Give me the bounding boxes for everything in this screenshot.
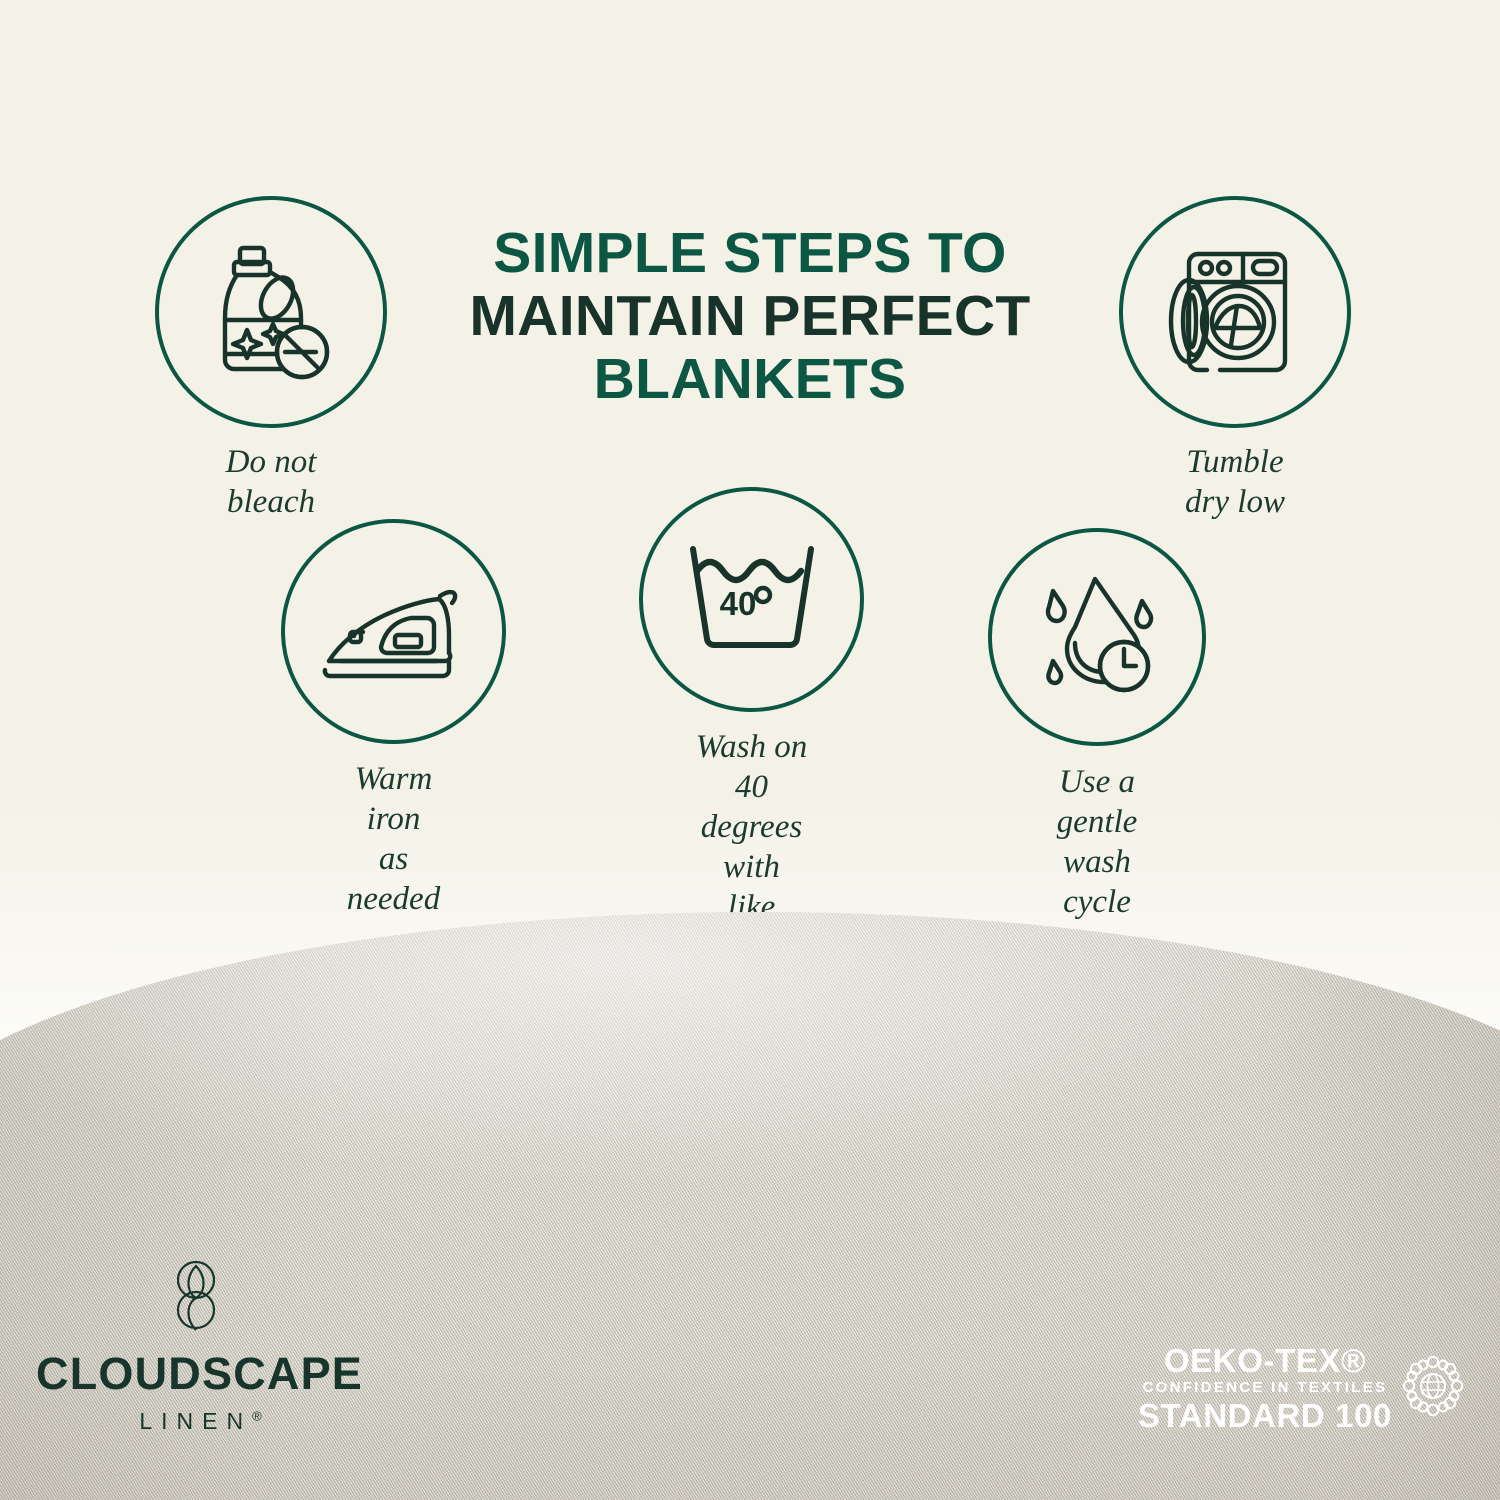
care-item-do-not-bleach: Do not bleach [155,196,387,428]
bleach-bottle-prohibited-icon [206,242,336,382]
oeko-tex-certification-badge: OEKO-TEX® CONFIDENCE IN TEXTILES STANDAR… [1138,1343,1464,1434]
care-item-caption: Use a gentle wash cycle [1043,762,1152,922]
water-droplet-timer-icon [1031,573,1163,701]
brand-name: CLOUDSCAPE [36,1350,356,1398]
title-line-2: MAINTAIN PERFECT [420,285,1080,348]
oeko-tex-line-3: STANDARD 100 [1138,1398,1392,1434]
care-item-caption: Do not bleach [213,442,329,522]
registered-trademark-symbol: ® [252,1408,262,1423]
care-item-warm-iron: Warm iron as needed [281,519,506,744]
brand-logo: CLOUDSCAPE LINEN® [36,1258,356,1435]
care-icon-ring [155,196,387,428]
care-icon-ring [988,528,1206,746]
wash-temperature-value: 40 [719,585,756,622]
page-title: SIMPLE STEPS TO MAINTAIN PERFECT BLANKET… [420,222,1080,411]
care-icon-ring [281,519,506,744]
brand-subname-text: LINEN [139,1408,252,1434]
care-instructions-section: SIMPLE STEPS TO MAINTAIN PERFECT BLANKET… [0,0,1500,900]
care-item-tumble-dry-low: Tumble dry low [1119,196,1351,428]
brand-subname: LINEN® [130,1408,261,1435]
oeko-tex-flower-globe-icon [1402,1355,1464,1422]
care-icon-ring: 40 [639,487,864,712]
interlocking-circles-logo-icon [36,1258,356,1334]
care-item-gentle-wash-cycle: Use a gentle wash cycle [988,528,1206,746]
care-icon-ring [1119,196,1351,428]
oeko-tex-line-1: OEKO-TEX® [1138,1343,1392,1378]
clothes-iron-icon [319,573,469,691]
oeko-tex-text-block: OEKO-TEX® CONFIDENCE IN TEXTILES STANDAR… [1138,1343,1392,1434]
care-instruction-graphic: SIMPLE STEPS TO MAINTAIN PERFECT BLANKET… [0,0,1500,1500]
title-line-3: BLANKETS [420,348,1080,411]
care-item-wash-40-degrees: 40 Wash on 40 degrees with like colors [639,487,864,712]
wash-tub-icon: 40 [684,543,820,657]
care-item-caption: Warm iron as needed [337,759,450,919]
oeko-tex-line-2: CONFIDENCE IN TEXTILES [1138,1378,1392,1398]
care-item-caption: Tumble dry low [1177,442,1293,522]
tumble-dryer-icon [1165,244,1305,380]
title-line-1: SIMPLE STEPS TO [420,222,1080,285]
